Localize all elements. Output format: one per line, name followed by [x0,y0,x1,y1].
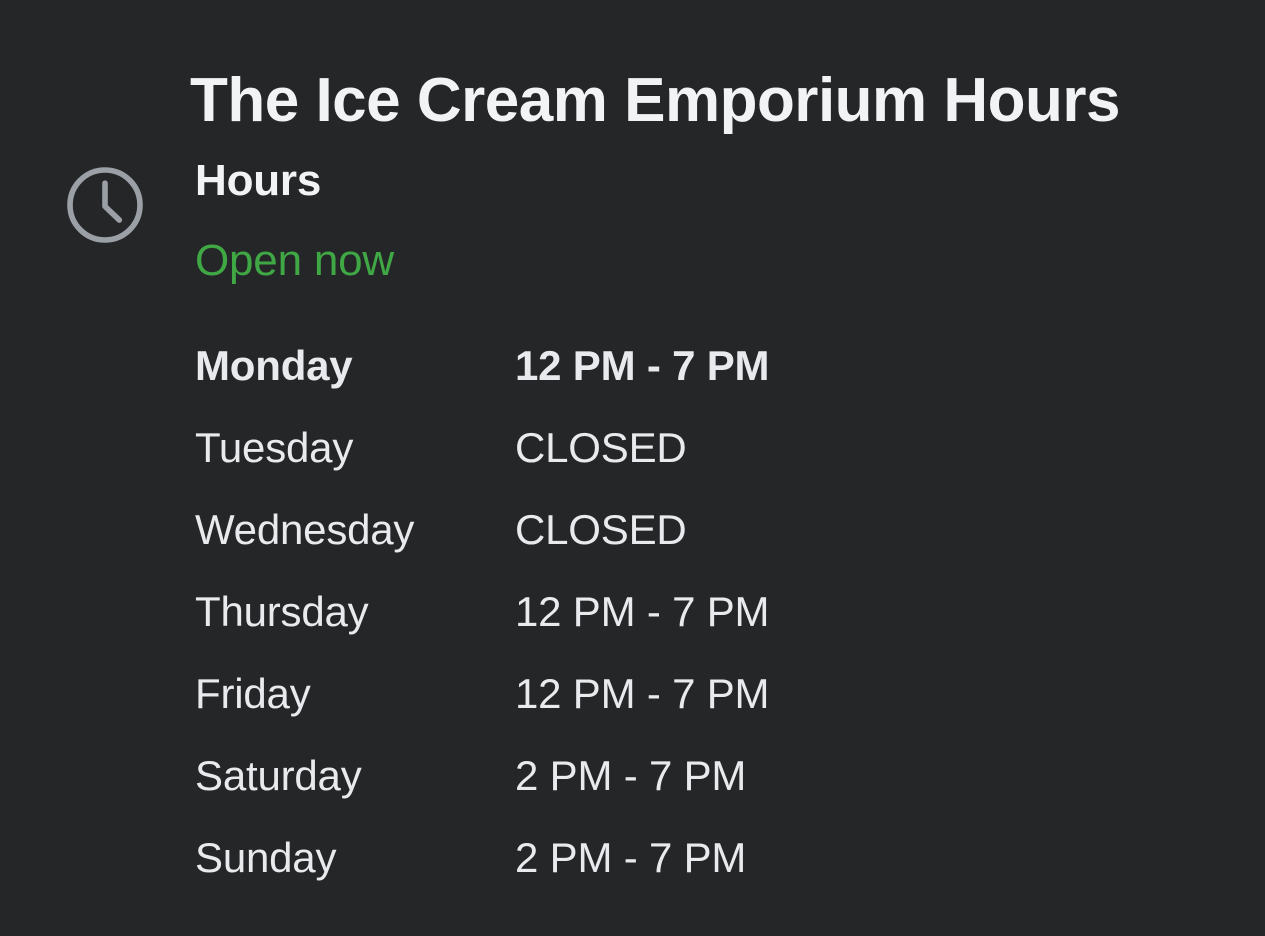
table-row: Friday12 PM - 7 PM [195,673,769,755]
table-row: Monday12 PM - 7 PM [195,345,769,427]
hours-body: Hours Open now Monday12 PM - 7 PMTuesday… [195,140,1195,879]
table-row: Sunday2 PM - 7 PM [195,837,769,879]
day-label: Tuesday [195,427,515,509]
day-label: Wednesday [195,509,515,591]
hours-schedule-body: Monday12 PM - 7 PMTuesdayCLOSEDWednesday… [195,345,769,879]
day-label: Thursday [195,591,515,673]
hours-page: The Ice Cream Emporium Hours Hours Open … [0,0,1265,936]
day-hours-value: 12 PM - 7 PM [515,591,769,673]
day-label: Friday [195,673,515,755]
status-badge: Open now [195,210,1195,290]
day-hours-value: 2 PM - 7 PM [515,837,769,879]
hours-schedule-table: Monday12 PM - 7 PMTuesdayCLOSEDWednesday… [195,345,769,879]
day-hours-value: CLOSED [515,509,769,591]
page-title: The Ice Cream Emporium Hours [190,58,1265,144]
hours-heading: Hours [195,140,1195,210]
day-hours-value: 12 PM - 7 PM [515,673,769,755]
day-label: Sunday [195,837,515,879]
table-row: WednesdayCLOSED [195,509,769,591]
table-row: Thursday12 PM - 7 PM [195,591,769,673]
day-label: Monday [195,345,515,427]
day-label: Saturday [195,755,515,837]
table-row: TuesdayCLOSED [195,427,769,509]
day-hours-value: 2 PM - 7 PM [515,755,769,837]
day-hours-value: 12 PM - 7 PM [515,345,769,427]
table-row: Saturday2 PM - 7 PM [195,755,769,837]
day-hours-value: CLOSED [515,427,769,509]
